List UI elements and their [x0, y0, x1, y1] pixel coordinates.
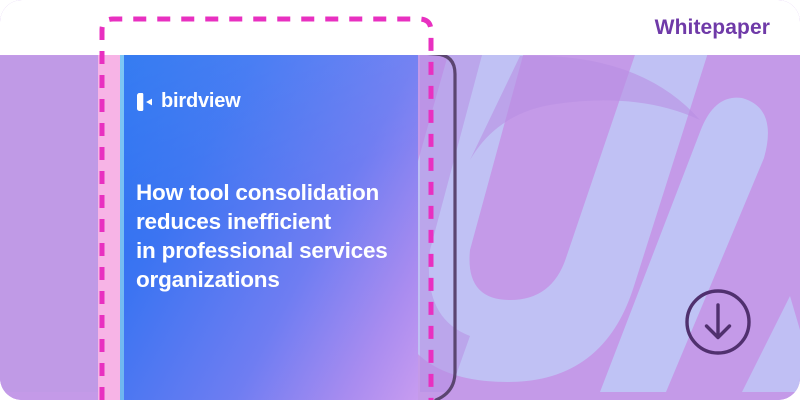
book-headline: How tool consolidation reduces inefficie… — [136, 178, 422, 294]
whitepaper-badge: Whitepaper — [655, 16, 770, 40]
headline-line-2: reduces inefficient — [136, 207, 422, 236]
download-button[interactable] — [683, 287, 753, 357]
whitepaper-promo-card[interactable]: birdview How tool consolidation reduces … — [0, 0, 800, 400]
download-arrow-circle-icon[interactable] — [683, 287, 753, 357]
birdview-bird-icon — [136, 92, 153, 112]
birdview-logo: birdview — [136, 90, 241, 113]
headline-line-3: in professional services — [136, 236, 422, 265]
headline-line-4: organizations — [136, 265, 422, 294]
headline-line-1: How tool consolidation — [136, 178, 422, 207]
book-edge-band — [98, 42, 120, 400]
birdview-wordmark: birdview — [161, 90, 241, 113]
